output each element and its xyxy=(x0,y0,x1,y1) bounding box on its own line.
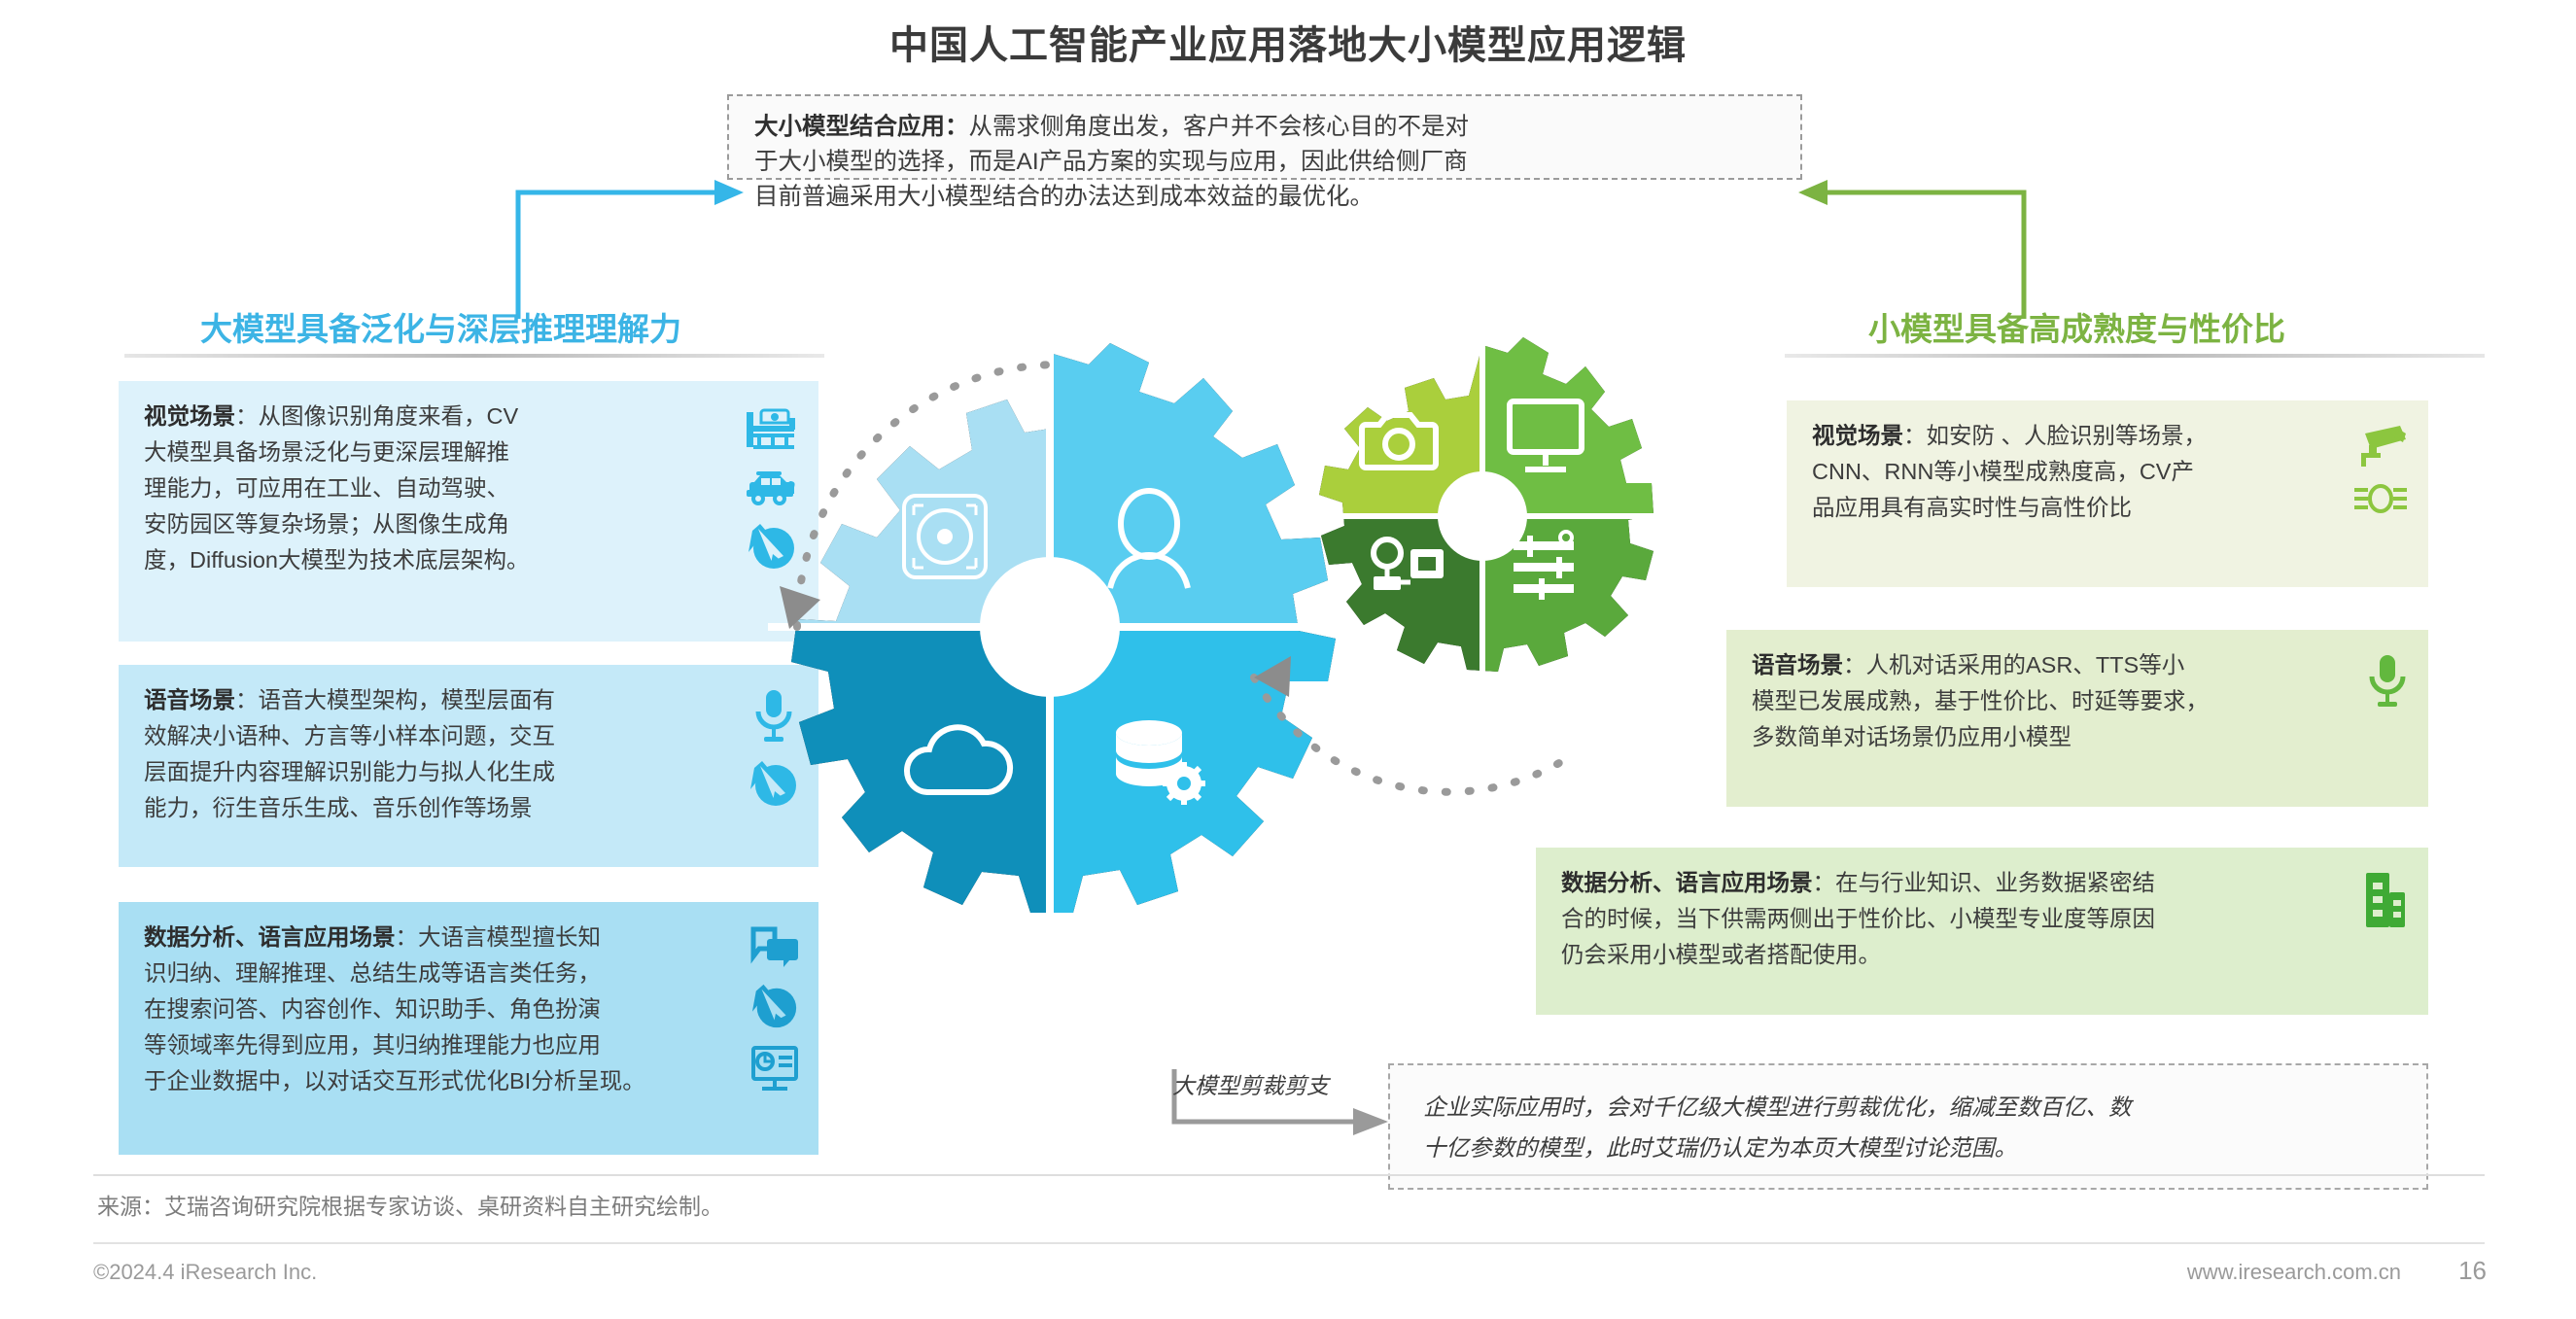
left-card-1-line-4: 安防园区等复杂场景；从图像生成角 xyxy=(144,506,735,542)
right-card-1-line-1: 视觉场景：如安防 、人脸识别等场景， xyxy=(1812,418,2343,454)
left-card-3-line-1: 数据分析、语言应用场景：大语言模型擅长知 xyxy=(144,920,741,955)
left-card-3-line-3: 在搜索问答、内容创作、知识助手、角色扮演 xyxy=(144,991,741,1027)
right-card-1-line-2: CNN、RNN等小模型成熟度高，CV产 xyxy=(1812,454,2343,490)
note-line-1: 企业实际应用时，会对千亿级大模型进行剪裁优化，缩减至数百亿、数 xyxy=(1423,1087,2397,1128)
trim-label: 大模型剪裁剪支 xyxy=(1172,1067,1329,1100)
right-card-2-body: 语音场景：人机对话采用的ASR、TTS等小 模型已发展成熟，基于性价比、时延等要… xyxy=(1752,647,2356,755)
left-card-1-colon: ：从图像识别角度来看，CV xyxy=(235,403,518,429)
copyright-text: ©2024.4 iResearch Inc. xyxy=(93,1260,317,1285)
right-card-3-rest: ：在与行业知识、业务数据紧密结 xyxy=(1813,870,2156,895)
left-section-header: 大模型具备泛化与深层推理理解力 xyxy=(200,303,681,350)
left-connector-arrow xyxy=(510,175,744,321)
combined-line-2: 于大小模型的选择，而是AI产品方案的实现与应用，因此供给侧厂商 xyxy=(754,145,1779,180)
source-note: 来源：艾瑞咨询研究院根据专家访谈、桌研资料自主研究绘制。 xyxy=(97,1188,723,1221)
right-card-2-line-2: 模型已发展成熟，基于性价比、时延等要求， xyxy=(1752,683,2356,719)
left-card-1-line-1: 视觉场景：从图像识别角度来看，CV xyxy=(144,399,735,434)
note-line-2: 十亿参数的模型，此时艾瑞仍认定为本页大模型讨论范围。 xyxy=(1423,1128,2397,1168)
right-card-2-icons xyxy=(2366,647,2409,710)
right-card-2-label: 语音场景 xyxy=(1752,652,1843,677)
trim-note-box: 企业实际应用时，会对千亿级大模型进行剪裁优化，缩减至数百亿、数 十亿参数的模型，… xyxy=(1388,1063,2428,1190)
combined-line-1: 大小模型结合应用：从需求侧角度出发，客户并不会核心目的不是对 xyxy=(754,110,1779,145)
right-card-1-body: 视觉场景：如安防 、人脸识别等场景， CNN、RNN等小模型成熟度高，CV产 品… xyxy=(1812,418,2343,526)
right-card-2-line-3: 多数简单对话场景仍应用小模型 xyxy=(1752,719,2356,755)
page-number: 16 xyxy=(2458,1256,2487,1286)
left-card-2-line-2: 效解决小语种、方言等小样本问题，交互 xyxy=(144,718,739,754)
infographic-page: 中国人工智能产业应用落地大小模型应用逻辑 大小模型结合应用：从需求侧角度出发，客… xyxy=(0,0,2576,1319)
left-card-2-rest: ：语音大模型架构，模型层面有 xyxy=(235,687,555,712)
right-card-1-label: 视觉场景 xyxy=(1812,423,1903,448)
left-card-3-body: 数据分析、语言应用场景：大语言模型擅长知 识归纳、理解推理、总结生成等语言类任务… xyxy=(144,920,741,1099)
left-card-3-line-2: 识归纳、理解推理、总结生成等语言类任务， xyxy=(144,955,741,991)
right-card-voice-scene: 语音场景：人机对话采用的ASR、TTS等小 模型已发展成熟，基于性价比、时延等要… xyxy=(1726,630,2428,807)
left-card-3-label: 数据分析、语言应用场景 xyxy=(144,924,396,950)
small-gear xyxy=(1307,335,1667,714)
right-card-1-icons xyxy=(2352,418,2409,517)
combined-application-box: 大小模型结合应用：从需求侧角度出发，客户并不会核心目的不是对 于大小模型的选择，… xyxy=(727,94,1802,180)
combined-rest-1: 从需求侧角度出发，客户并不会核心目的不是对 xyxy=(969,114,1470,140)
slider-settings-icon xyxy=(1514,532,1574,600)
left-card-2-body: 语音场景：语音大模型架构，模型层面有 效解决小语种、方言等小样本问题，交互 层面… xyxy=(144,682,739,826)
left-card-visual-scene: 视觉场景：从图像识别角度来看，CV 大模型具备场景泛化与更深层理解推 理能力，可… xyxy=(119,381,818,642)
left-card-1-line-3: 理能力，可应用在工业、自动驾驶、 xyxy=(144,470,735,506)
left-card-2-line-4: 能力，衍生音乐生成、音乐创作等场景 xyxy=(144,790,739,826)
right-card-visual-scene: 视觉场景：如安防 、人脸识别等场景， CNN、RNN等小模型成熟度高，CV产 品… xyxy=(1787,400,2428,587)
left-card-1-line-2: 大模型具备场景泛化与更深层理解推 xyxy=(144,434,735,470)
left-card-3-rest: ：大语言模型擅长知 xyxy=(396,924,602,950)
right-card-1-line-3: 品应用具有高实时性与高性价比 xyxy=(1812,490,2343,526)
left-card-data-language-scene: 数据分析、语言应用场景：大语言模型擅长知 识归纳、理解推理、总结生成等语言类任务… xyxy=(119,902,818,1155)
left-card-1-body: 视觉场景：从图像识别角度来看，CV 大模型具备场景泛化与更深层理解推 理能力，可… xyxy=(144,399,735,578)
right-section-rule xyxy=(1785,354,2485,358)
combined-line-3: 目前普遍采用大小模型结合的办法达到成本效益的最优化。 xyxy=(754,180,1779,215)
right-card-2-rest: ：人机对话采用的ASR、TTS等小 xyxy=(1843,652,2184,677)
building-icon xyxy=(2360,871,2409,929)
left-section-rule xyxy=(124,354,824,358)
cctv-camera-icon xyxy=(2353,424,2408,467)
website-url[interactable]: www.iresearch.com.cn xyxy=(2187,1260,2401,1285)
face-recognition-icon xyxy=(2352,480,2409,517)
right-card-3-icons xyxy=(2360,865,2409,929)
right-connector-arrow xyxy=(1789,175,2032,321)
right-section-header: 小模型具备高成熟度与性价比 xyxy=(1868,303,2285,350)
footer-divider xyxy=(93,1242,2485,1244)
left-card-voice-scene: 语音场景：语音大模型架构，模型层面有 效解决小语种、方言等小样本问题，交互 层面… xyxy=(119,665,818,867)
microphone-icon xyxy=(2366,653,2409,710)
gear-diagram xyxy=(768,335,1701,1074)
left-card-3-line-4: 等领域率先得到应用，其归纳推理能力也应用 xyxy=(144,1027,741,1063)
combined-lead: 大小模型结合应用： xyxy=(754,114,969,140)
right-card-1-rest: ：如安防 、人脸识别等场景， xyxy=(1903,423,2207,448)
page-title: 中国人工智能产业应用落地大小模型应用逻辑 xyxy=(0,14,2576,70)
left-card-1-line-5: 度，Diffusion大模型为技术底层架构。 xyxy=(144,542,735,578)
source-divider xyxy=(93,1174,2485,1176)
right-card-2-line-1: 语音场景：人机对话采用的ASR、TTS等小 xyxy=(1752,647,2356,683)
left-card-3-line-5: 于企业数据中，以对话交互形式优化BI分析呈现。 xyxy=(144,1063,741,1099)
big-gear xyxy=(768,335,1341,938)
left-card-2-line-3: 层面提升内容理解识别能力与拟人化生成 xyxy=(144,754,739,790)
left-card-2-label: 语音场景 xyxy=(144,687,235,712)
left-card-1-label: 视觉场景 xyxy=(144,403,235,429)
left-card-2-line-1: 语音场景：语音大模型架构，模型层面有 xyxy=(144,682,739,718)
